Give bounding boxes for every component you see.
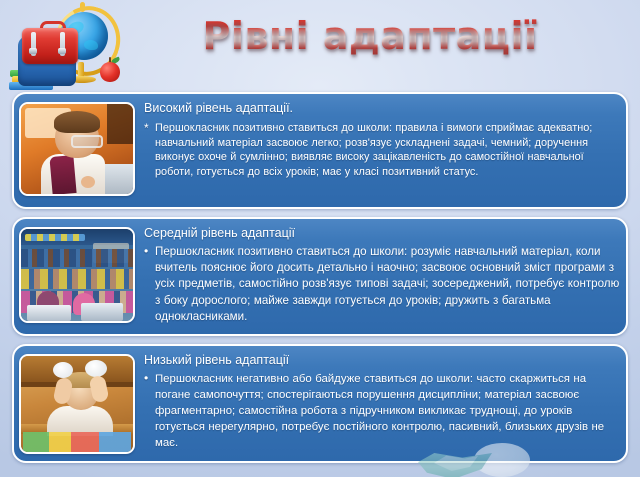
globe-top-icon: [80, 2, 85, 12]
briefcase-buckle-icon: [29, 48, 37, 54]
level-card-content-high: Високий рівень адаптації. * Першокласник…: [135, 99, 620, 179]
level-card-content-medium: Середній рівень адаптації • Першокласник…: [135, 224, 620, 325]
level-bullet-row-medium: • Першокласник позитивно ставиться до шк…: [144, 244, 620, 325]
level-card-low: Низький рівень адаптації • Першокласник …: [12, 344, 628, 463]
bullet-marker: •: [144, 244, 155, 260]
level-text-medium: Першокласник позитивно ставиться до школ…: [155, 244, 620, 325]
slide-header: Рівні адаптації: [0, 0, 640, 92]
level-text-high: Першокласник позитивно ставиться до школ…: [155, 121, 620, 179]
level-heading-medium: Середній рівень адаптації: [144, 226, 620, 241]
level-bullet-row-low: • Першокласник негативно або байдуже ста…: [144, 371, 620, 451]
briefcase-buckle-icon: [58, 48, 66, 54]
level-card-high: Високий рівень адаптації. * Першокласник…: [12, 92, 628, 209]
level-bullet-row-high: * Першокласник позитивно ставиться до шк…: [144, 121, 620, 179]
school-supplies-icon: [8, 2, 128, 94]
thumbnail-photo-high: [19, 102, 135, 196]
thumbnail-photo-low: [19, 354, 135, 454]
apple-icon: [100, 62, 120, 82]
bullet-marker: •: [144, 371, 155, 387]
level-card-medium: Середній рівень адаптації • Першокласник…: [12, 217, 628, 336]
page-title: Рівні адаптації: [150, 14, 590, 58]
thumbnail-photo-medium: [19, 227, 135, 323]
level-heading-low: Низький рівень адаптації: [144, 353, 620, 368]
bullet-marker: *: [144, 121, 155, 136]
level-text-low: Першокласник негативно або байдуже стави…: [155, 371, 620, 451]
slide-canvas: Рівні адаптації Високий рівень адаптації…: [0, 0, 640, 477]
globe-land-icon: [84, 40, 98, 50]
level-card-content-low: Низький рівень адаптації • Першокласник …: [135, 351, 620, 451]
level-heading-high: Високий рівень адаптації.: [144, 101, 620, 116]
